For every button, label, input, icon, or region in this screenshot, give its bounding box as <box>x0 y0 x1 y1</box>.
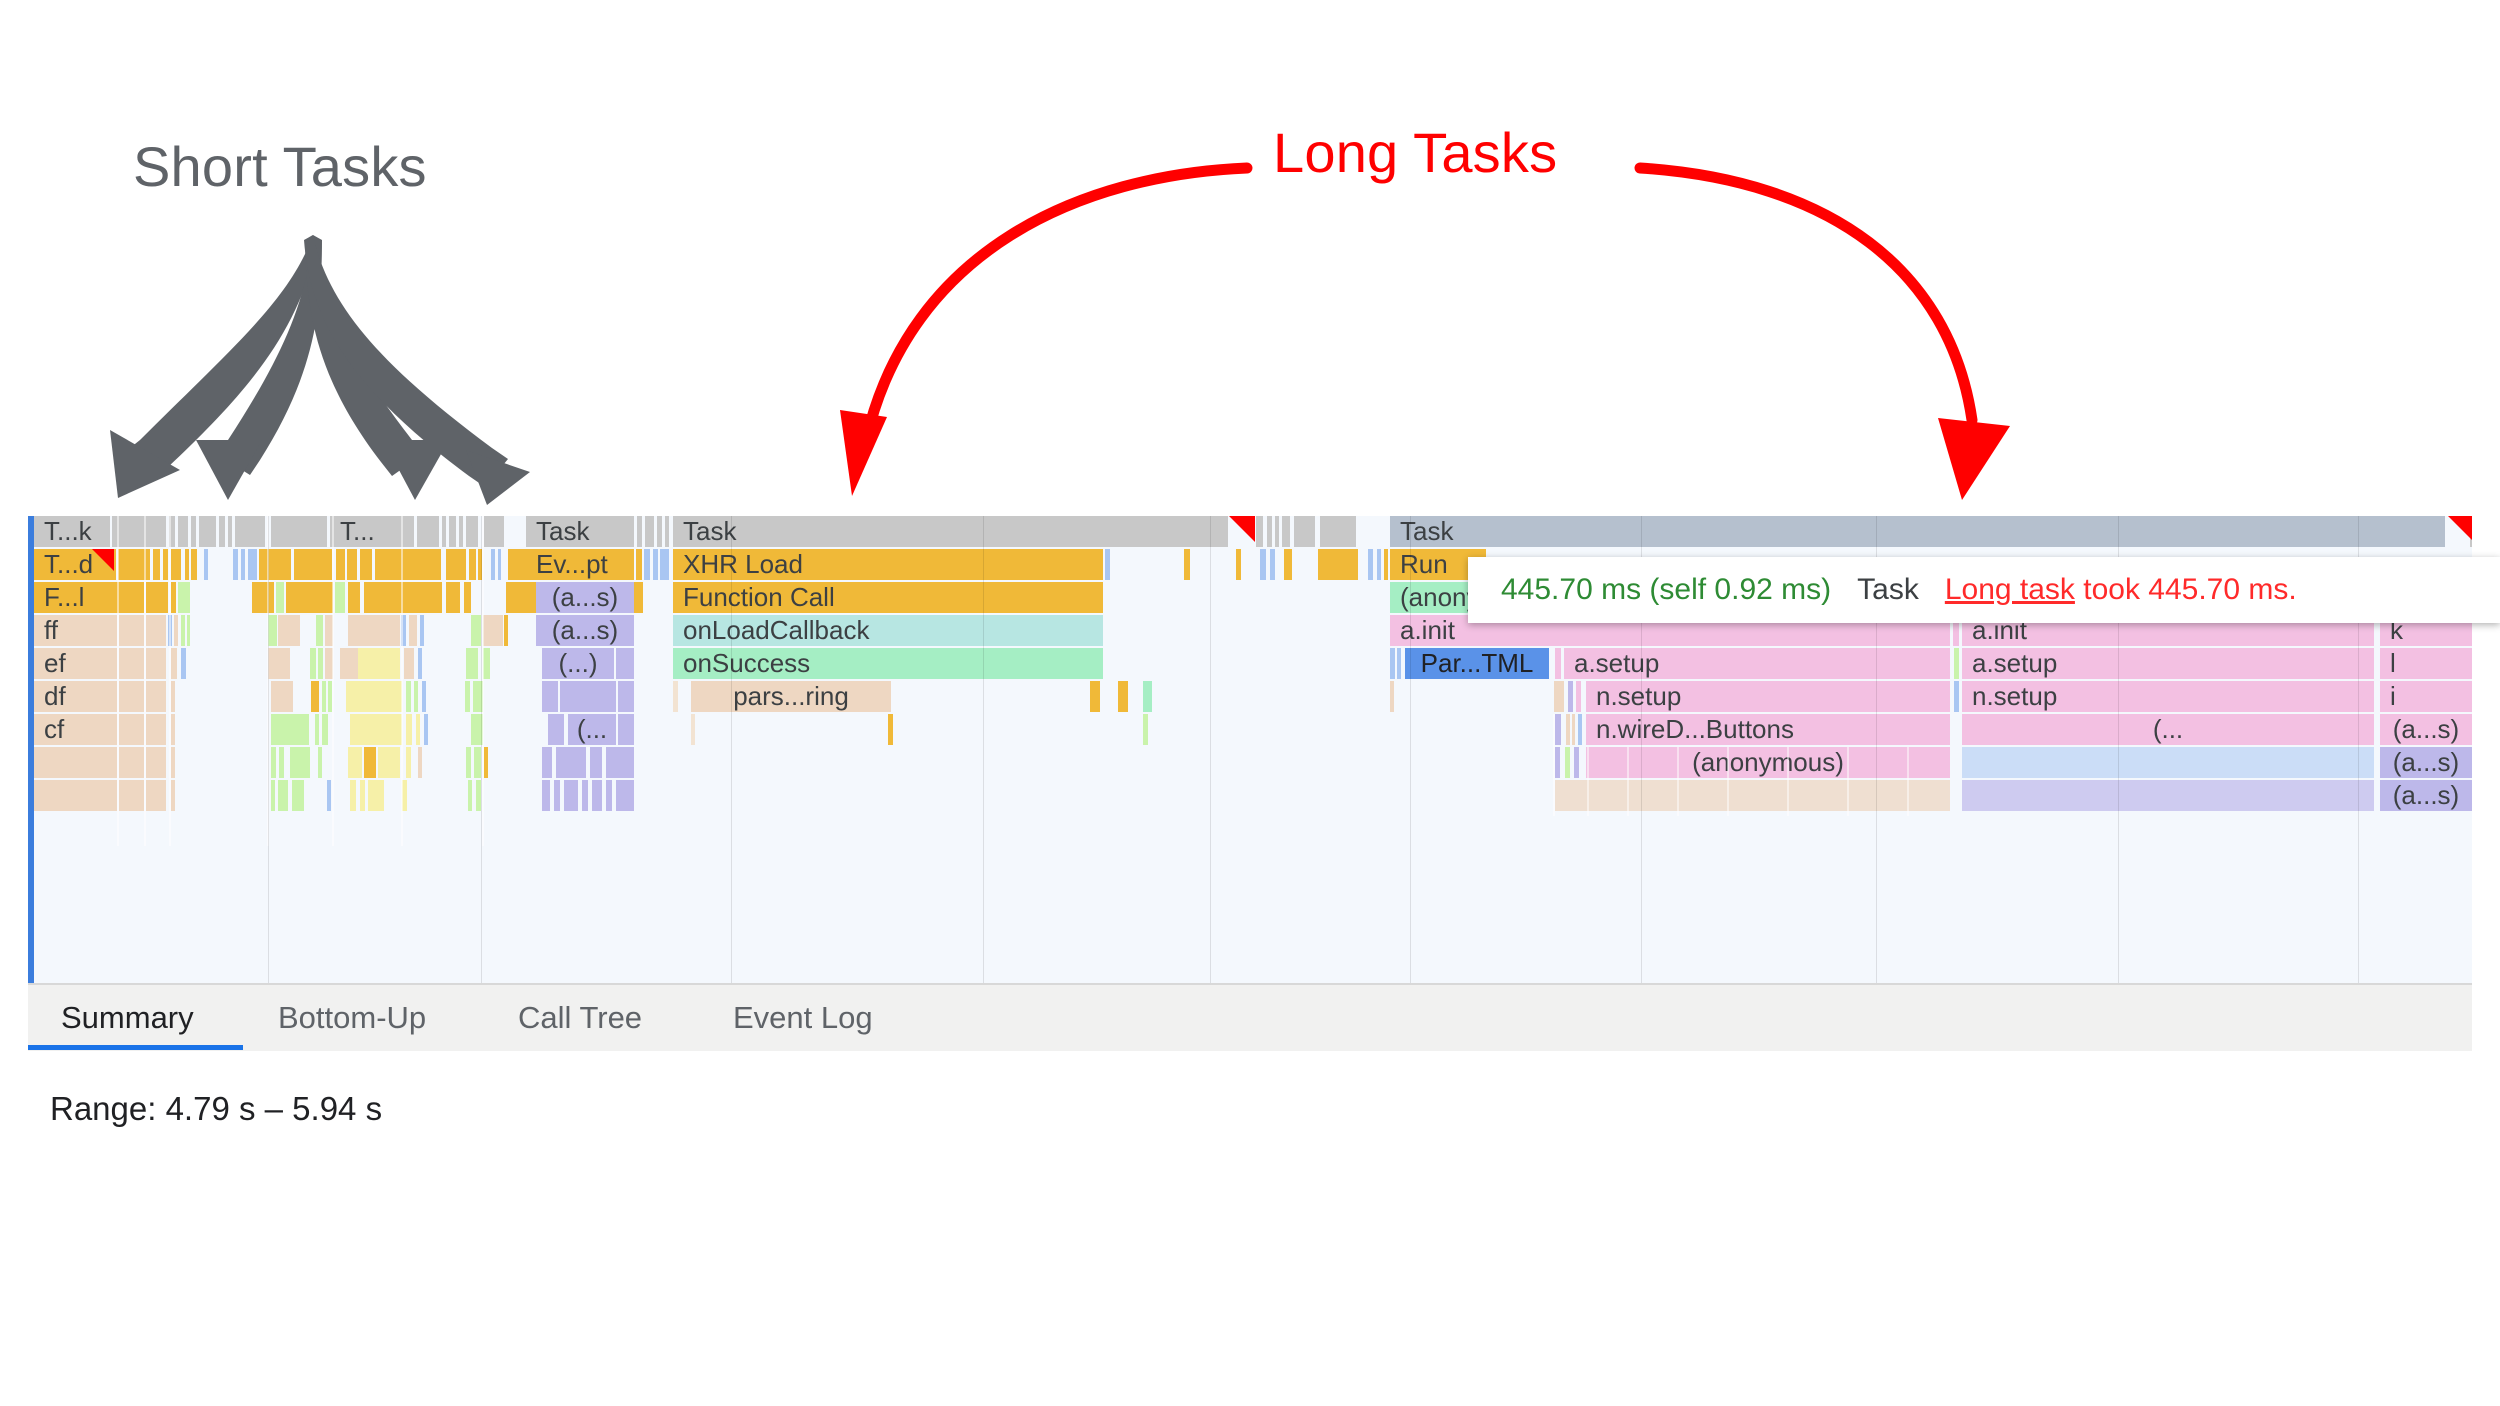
flame-block-n-setup-2[interactable]: n.setup <box>1962 681 2374 712</box>
flame-block-on-success[interactable]: onSuccess <box>673 648 1103 679</box>
flame-segment[interactable] <box>1954 648 1959 679</box>
flame-segment[interactable] <box>271 780 275 811</box>
flame-segment[interactable] <box>1294 516 1315 547</box>
flame-segment[interactable] <box>1090 681 1100 712</box>
flame-segment[interactable] <box>294 549 332 580</box>
flame-segment[interactable] <box>268 648 290 679</box>
flame-block-parse-html[interactable]: Par...TML <box>1405 648 1549 679</box>
flame-segment[interactable] <box>174 615 178 646</box>
flame-segment[interactable] <box>691 714 695 745</box>
flame-segment[interactable] <box>169 516 175 547</box>
flame-segment[interactable] <box>418 648 422 679</box>
flame-segment[interactable] <box>146 681 166 712</box>
gridline <box>731 516 732 983</box>
flame-segment[interactable] <box>446 549 466 580</box>
flame-segment[interactable] <box>171 549 181 580</box>
flame-segment[interactable] <box>406 681 411 712</box>
flame-segment[interactable] <box>119 648 144 679</box>
gridline <box>268 516 269 983</box>
flame-segment[interactable] <box>484 516 504 547</box>
flame-segment[interactable] <box>1555 780 1950 811</box>
long-task-red-marker <box>92 549 114 571</box>
flame-block-anon-s-2[interactable]: (a...s) <box>536 615 634 646</box>
tooltip-warning: Long task took 445.70 ms. <box>1945 573 2297 607</box>
flame-segment[interactable] <box>292 780 304 811</box>
flame-block-f-l[interactable]: F...l <box>34 582 144 613</box>
flame-segment[interactable] <box>271 714 309 745</box>
flame-segment[interactable] <box>606 747 634 778</box>
flame-segment[interactable] <box>1377 549 1381 580</box>
flame-segment[interactable] <box>327 780 331 811</box>
flame-segment[interactable] <box>1118 681 1128 712</box>
flame-segment[interactable] <box>1565 747 1570 778</box>
flame-segment[interactable] <box>1236 549 1241 580</box>
flame-segment[interactable] <box>554 780 560 811</box>
flame-segment[interactable] <box>491 549 495 580</box>
flame-segment[interactable] <box>634 582 643 613</box>
flame-segment[interactable] <box>1390 648 1395 679</box>
flame-segment[interactable] <box>178 516 188 547</box>
long-task-red-marker <box>2448 516 2472 542</box>
flame-segment[interactable] <box>1566 714 1570 745</box>
flame-segment[interactable] <box>560 681 616 712</box>
flame-segment[interactable] <box>1105 549 1110 580</box>
flame-segment[interactable] <box>466 516 478 547</box>
flame-segment[interactable] <box>442 516 446 547</box>
flame-row-8[interactable]: (a...s) <box>28 780 2472 811</box>
flame-block-anon-s-1[interactable]: (a...s) <box>536 582 634 613</box>
flame-block-task-1[interactable]: Task <box>526 516 634 547</box>
flame-segment[interactable] <box>347 549 357 580</box>
flame-segment[interactable] <box>241 549 245 580</box>
flame-segment[interactable] <box>618 681 634 712</box>
flame-block-parse-string[interactable]: pars...ring <box>691 681 891 712</box>
flame-segment[interactable] <box>204 549 208 580</box>
flame-segment[interactable] <box>278 615 300 646</box>
flame-segment[interactable] <box>653 549 658 580</box>
flame-segment[interactable] <box>119 681 144 712</box>
flame-segment[interactable] <box>406 747 411 778</box>
flame-segment[interactable] <box>325 648 333 679</box>
tab-summary[interactable]: Summary <box>61 985 194 1051</box>
flame-row-7[interactable]: (anonymous) (a...s) <box>28 747 2472 778</box>
gridline <box>481 516 482 983</box>
flame-block-task-short-1[interactable]: T...k <box>34 516 110 547</box>
tooltip-warning-link[interactable]: Long task <box>1945 573 2075 606</box>
flame-block-on-load-callback[interactable]: onLoadCallback <box>673 615 1103 646</box>
flame-segment[interactable] <box>483 615 503 646</box>
flame-row-4[interactable]: ef (...) onSuccess Par...TML a.setup a.s… <box>28 648 2472 679</box>
flame-segment[interactable] <box>348 582 360 613</box>
tab-call-tree[interactable]: Call Tree <box>518 985 642 1051</box>
flame-block-df[interactable]: df <box>34 681 117 712</box>
flame-segment[interactable] <box>1284 549 1292 580</box>
flame-segment[interactable] <box>278 780 288 811</box>
gridline <box>1410 516 1411 983</box>
flame-segment[interactable] <box>1578 714 1582 745</box>
flame-segment[interactable] <box>290 747 310 778</box>
flame-segment[interactable] <box>665 516 669 547</box>
flame-segment[interactable] <box>146 780 166 811</box>
flame-segment[interactable] <box>271 747 276 778</box>
flame-segment[interactable] <box>468 780 472 811</box>
flame-block-ellipsis-open-2[interactable]: (... <box>1962 714 2374 745</box>
flame-segment[interactable] <box>119 747 144 778</box>
flame-segment[interactable] <box>1397 648 1401 679</box>
flame-segment[interactable] <box>1368 549 1373 580</box>
flame-segment[interactable] <box>171 747 175 778</box>
flame-segment[interactable] <box>146 714 166 745</box>
flame-segment[interactable] <box>1555 747 1560 778</box>
flame-segment[interactable] <box>1318 549 1358 580</box>
flame-segment[interactable] <box>592 780 602 811</box>
flame-segment[interactable] <box>1574 747 1579 778</box>
flame-segment[interactable] <box>252 582 274 613</box>
flame-segment[interactable] <box>118 549 150 580</box>
flame-segment[interactable] <box>645 516 654 547</box>
flame-segment[interactable] <box>271 516 327 547</box>
flame-segment[interactable] <box>248 549 257 580</box>
flame-segment[interactable] <box>315 714 319 745</box>
flame-segment[interactable] <box>171 648 177 679</box>
flame-segment[interactable] <box>1962 747 2374 778</box>
flame-segment[interactable] <box>360 549 372 580</box>
flame-segment[interactable] <box>484 747 488 778</box>
flame-segment[interactable] <box>178 582 190 613</box>
flame-segment[interactable] <box>1184 549 1190 580</box>
flame-block-anon-s-5[interactable]: (a...s) <box>2380 780 2472 811</box>
flame-segment[interactable] <box>401 615 406 646</box>
flame-block-a-setup-2[interactable]: a.setup <box>1962 648 2374 679</box>
flame-segment[interactable] <box>590 747 602 778</box>
flame-segment[interactable] <box>414 681 418 712</box>
flame-segment[interactable] <box>1143 681 1152 712</box>
flame-segment[interactable] <box>199 516 216 547</box>
flame-segment[interactable] <box>1267 516 1272 547</box>
flame-segment[interactable] <box>1270 549 1275 580</box>
flame-segment[interactable] <box>471 615 481 646</box>
flame-segment[interactable] <box>542 681 558 712</box>
flame-segment[interactable] <box>325 615 333 646</box>
flame-segment[interactable] <box>1568 681 1573 712</box>
flame-segment[interactable] <box>1555 714 1561 745</box>
short-tasks-arrows <box>125 235 508 487</box>
event-tooltip: 445.70 ms (self 0.92 ms) Task Long task … <box>1468 557 2500 623</box>
flame-segment[interactable] <box>235 516 265 547</box>
flame-segment[interactable] <box>409 615 417 646</box>
flame-segment[interactable] <box>119 615 144 646</box>
flame-segment[interactable] <box>348 615 400 646</box>
short-arrow-heads <box>110 430 530 505</box>
flame-segment[interactable] <box>350 714 402 745</box>
long-tasks-arrow-left-head <box>840 410 887 496</box>
flame-segment[interactable] <box>582 780 588 811</box>
flame-segment[interactable] <box>1572 714 1575 745</box>
flame-segment[interactable] <box>171 780 175 811</box>
flame-segment[interactable] <box>616 648 634 679</box>
flame-block-l[interactable]: l <box>2380 648 2472 679</box>
flame-segment[interactable] <box>112 516 166 547</box>
flame-segment[interactable] <box>259 549 291 580</box>
flame-segment[interactable] <box>1282 516 1290 547</box>
flame-segment[interactable] <box>233 549 238 580</box>
annotation-arrows <box>0 0 2500 540</box>
flame-segment[interactable] <box>420 615 424 646</box>
flame-segment[interactable] <box>368 780 384 811</box>
flame-segment[interactable] <box>276 582 284 613</box>
flame-segment[interactable] <box>404 648 414 679</box>
flame-block-i[interactable]: i <box>2380 681 2472 712</box>
flame-block-cf[interactable]: cf <box>34 714 117 745</box>
flame-segment[interactable] <box>498 549 501 580</box>
flame-segment[interactable] <box>542 747 552 778</box>
flame-block-anon-s-4[interactable]: (a...s) <box>2380 747 2472 778</box>
flame-segment[interactable] <box>1320 516 1356 547</box>
short-tasks-annotation-label: Short Tasks <box>133 134 427 199</box>
flame-segment[interactable] <box>402 780 407 811</box>
flame-segment[interactable] <box>350 780 356 811</box>
flame-segment[interactable] <box>1576 681 1581 712</box>
flame-segment[interactable] <box>187 615 190 646</box>
flame-segment[interactable] <box>418 747 422 778</box>
flame-segment[interactable] <box>637 516 642 547</box>
flame-segment[interactable] <box>181 648 186 679</box>
flame-segment[interactable] <box>375 549 441 580</box>
flame-segment[interactable] <box>378 747 400 778</box>
flame-segment[interactable] <box>322 681 326 712</box>
flame-segment[interactable] <box>474 747 481 778</box>
flame-block-ef[interactable]: ef <box>34 648 117 679</box>
flame-segment[interactable] <box>424 714 428 745</box>
flame-segment[interactable] <box>888 714 893 745</box>
flame-segment[interactable] <box>146 648 166 679</box>
flame-segment[interactable] <box>483 648 490 679</box>
long-tasks-arrow-right <box>1640 168 1972 420</box>
flame-segment[interactable] <box>657 516 662 547</box>
flame-segment[interactable] <box>1256 516 1263 547</box>
flame-segment[interactable] <box>606 780 612 811</box>
flame-block-anon-s-3[interactable]: (a...s) <box>2380 714 2472 745</box>
flame-segment[interactable] <box>318 648 323 679</box>
flame-segment[interactable] <box>310 648 316 679</box>
flame-segment[interactable] <box>340 648 358 679</box>
flame-block-ellipsis-paren[interactable]: (...) <box>542 648 614 679</box>
flame-segment[interactable] <box>348 747 362 778</box>
flame-segment[interactable] <box>119 780 144 811</box>
flame-segment[interactable] <box>268 615 277 646</box>
flame-segment[interactable] <box>618 714 634 745</box>
flame-block-ev-pt[interactable]: Ev...pt <box>526 549 634 580</box>
flame-segment[interactable] <box>1954 681 1959 712</box>
flame-block-function-call[interactable]: Function Call <box>673 582 1103 613</box>
flame-segment[interactable] <box>504 615 508 646</box>
flame-segment[interactable] <box>449 516 456 547</box>
flame-segment[interactable] <box>548 714 564 745</box>
flame-segment[interactable] <box>466 747 471 778</box>
flame-segment[interactable] <box>219 516 225 547</box>
flame-segment[interactable] <box>228 516 232 547</box>
flame-segment[interactable] <box>153 549 160 580</box>
flame-segment[interactable] <box>556 747 586 778</box>
flame-segment[interactable] <box>644 549 650 580</box>
flame-segment[interactable] <box>271 681 293 712</box>
long-tasks-arrow-right-head <box>1938 418 2010 500</box>
flame-segment[interactable] <box>191 516 196 547</box>
long-tasks-annotation-label: Long Tasks <box>1273 120 1557 185</box>
flame-row-0[interactable]: T...k T... Task Task Task <box>28 516 2472 547</box>
flame-segment[interactable] <box>1260 549 1266 580</box>
flame-segment[interactable] <box>464 582 471 613</box>
flame-segment[interactable] <box>346 681 402 712</box>
flame-segment[interactable] <box>336 549 345 580</box>
flame-segment[interactable] <box>322 714 328 745</box>
flame-segment[interactable] <box>171 582 176 613</box>
flame-segment[interactable] <box>564 780 578 811</box>
flame-segment[interactable] <box>360 780 365 811</box>
flame-segment[interactable] <box>316 615 323 646</box>
flame-segment[interactable] <box>1554 681 1564 712</box>
tooltip-event-name: Task <box>1857 573 1919 607</box>
flame-segment[interactable] <box>1555 648 1561 679</box>
flame-segment[interactable] <box>318 747 322 778</box>
flame-segment[interactable] <box>1962 780 2374 811</box>
flame-block-ellipsis-open-1[interactable]: (... <box>568 714 616 745</box>
flame-segment[interactable] <box>146 582 168 613</box>
flame-segment[interactable] <box>469 549 476 580</box>
flame-segment[interactable] <box>673 681 678 712</box>
flame-block-task-selected[interactable]: Task <box>1390 516 2445 547</box>
flame-row-5[interactable]: df pars...ring n.setup n.setup i <box>28 681 2472 712</box>
flame-segment[interactable] <box>335 582 345 613</box>
flame-segment[interactable] <box>163 549 168 580</box>
flame-segment[interactable] <box>286 582 333 613</box>
flame-block-a-setup-1[interactable]: a.setup <box>1564 648 1950 679</box>
flame-segment[interactable] <box>171 681 175 712</box>
flame-row-6[interactable]: cf (... n.wireD...Buttons (... (a...s) <box>28 714 2472 745</box>
flame-segment[interactable] <box>171 714 175 745</box>
flame-segment[interactable] <box>358 648 400 679</box>
flame-segment[interactable] <box>191 549 197 580</box>
flame-segment[interactable] <box>542 780 550 811</box>
flame-segment[interactable] <box>406 714 412 745</box>
tooltip-warning-text: took 445.70 ms. <box>2075 573 2297 606</box>
active-tab-indicator <box>28 1045 243 1050</box>
flame-segment[interactable] <box>328 681 332 712</box>
selection-edge-marker[interactable] <box>28 516 34 983</box>
flame-segment[interactable] <box>636 549 642 580</box>
flame-segment[interactable] <box>616 780 634 811</box>
flame-segment[interactable] <box>459 516 463 547</box>
tooltip-duration: 445.70 ms (self 0.92 ms) <box>1501 573 1831 607</box>
flame-segment[interactable] <box>146 747 166 778</box>
flame-segment[interactable] <box>181 615 185 646</box>
long-task-red-marker <box>1229 516 1255 542</box>
flame-segment[interactable] <box>465 681 470 712</box>
flame-segment[interactable] <box>422 681 426 712</box>
tab-event-log[interactable]: Event Log <box>733 985 873 1051</box>
flame-segment[interactable] <box>1143 714 1148 745</box>
flame-segment[interactable] <box>416 714 420 745</box>
range-label: Range: 4.79 s – 5.94 s <box>50 1090 382 1128</box>
flame-block-task-short-2[interactable]: T... <box>330 516 414 547</box>
long-tasks-arrow-left <box>866 168 1247 440</box>
flame-segment[interactable] <box>446 582 460 613</box>
flame-block-xhr-load[interactable]: XHR Load <box>673 549 1103 580</box>
flame-segment[interactable] <box>279 747 284 778</box>
flame-segment[interactable] <box>660 549 669 580</box>
flame-segment[interactable] <box>34 780 117 811</box>
flame-segment[interactable] <box>1390 681 1394 712</box>
flame-block-task-2[interactable]: Task <box>673 516 1228 547</box>
flame-segment[interactable] <box>311 681 319 712</box>
bottom-tab-bar[interactable]: Summary Bottom-Up Call Tree Event Log <box>28 983 2472 1051</box>
flame-segment[interactable] <box>417 516 439 547</box>
flame-segment[interactable] <box>119 714 144 745</box>
flame-segment[interactable] <box>522 582 532 613</box>
flame-segment[interactable] <box>146 615 166 646</box>
flame-segment[interactable] <box>1384 549 1388 580</box>
flame-segment[interactable] <box>364 582 442 613</box>
tab-bottom-up[interactable]: Bottom-Up <box>278 985 426 1051</box>
flame-block-ff[interactable]: ff <box>34 615 117 646</box>
flame-segment[interactable] <box>364 747 376 778</box>
flame-segment[interactable] <box>1275 516 1279 547</box>
flame-segment[interactable] <box>34 747 117 778</box>
gridline <box>1210 516 1211 983</box>
flame-segment[interactable] <box>466 648 478 679</box>
flame-segment[interactable] <box>185 549 189 580</box>
gridline <box>983 516 984 983</box>
flame-segment[interactable] <box>168 615 172 646</box>
